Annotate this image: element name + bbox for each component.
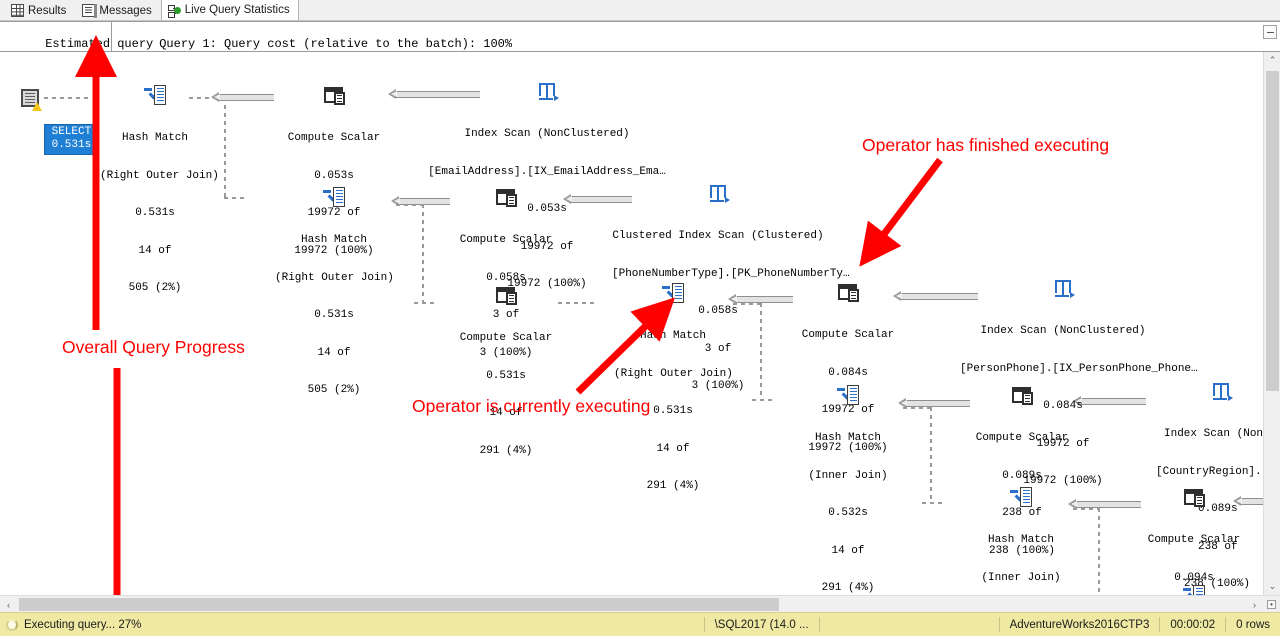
tab-results-label: Results — [28, 5, 66, 17]
compute-scalar-icon — [1183, 487, 1205, 507]
estimated-query-progress: Estimated query progress:27% — [0, 22, 112, 51]
node-time: 0.532s — [795, 507, 901, 520]
tab-live-query-statistics[interactable]: Live Query Statistics — [161, 0, 299, 20]
plan-node-hash-match-1[interactable]: Hash Match (Right Outer Join) 0.531s 14 … — [100, 60, 210, 320]
query-cost-line: Query 1: Query cost (relative to the bat… — [159, 37, 512, 51]
grid-icon — [11, 4, 24, 17]
node-total: 291 (4%) — [614, 480, 732, 493]
node-title: Compute Scalar — [1140, 534, 1248, 547]
node-title: Compute Scalar — [794, 329, 902, 342]
plan-node-hash-match-3[interactable]: Hash Match (Right Outer Join) 0.531s 14 … — [614, 258, 732, 518]
execution-plan-canvas[interactable]: SELECT0.531s Hash Match (Right Outer Joi… — [0, 52, 1280, 595]
compute-scalar-icon — [495, 285, 517, 305]
scroll-up-icon[interactable]: ⌃ — [1264, 52, 1280, 69]
horizontal-scrollbar[interactable]: ‹ › • — [0, 595, 1280, 612]
node-title: Hash Match — [795, 432, 901, 445]
connector-arrow — [218, 93, 274, 102]
node-rows: 14 of — [100, 245, 210, 258]
horizontal-scroll-thumb[interactable] — [19, 598, 779, 611]
node-time: 0.531s — [100, 207, 210, 220]
plan-node-compute-scalar-3[interactable]: Compute Scalar 0.531s 14 of 291 (4%) — [452, 260, 560, 482]
hash-match-icon — [662, 283, 684, 303]
connector-dashed — [396, 204, 424, 206]
index-scan-icon — [1210, 381, 1232, 401]
status-executing: Executing query... 27% — [0, 619, 141, 631]
collapse-icon[interactable] — [1263, 25, 1277, 39]
annotation-overall-query-progress: Overall Query Progress — [62, 337, 245, 358]
hash-match-icon — [837, 385, 859, 405]
live-query-statistics-pane: Results Messages Live Query Statistics E… — [0, 0, 1280, 636]
plan-node-select[interactable]: SELECT0.531s — [4, 64, 56, 167]
node-subtitle: (Right Outer Join) — [100, 170, 210, 183]
node-title: Index Scan (NonClustered) — [960, 325, 1166, 338]
node-total: 505 (2%) — [100, 282, 210, 295]
query-cost-and-sql: Query 1: Query cost (relative to the bat… — [112, 22, 1280, 51]
live-query-statistics-icon — [168, 4, 181, 17]
status-database: AdventureWorks2016CTP3 — [999, 617, 1160, 632]
node-title: Index Scan (NonClu — [1148, 428, 1280, 441]
node-title: Compute Scalar — [452, 332, 560, 345]
compute-scalar-icon — [1011, 385, 1033, 405]
scroll-down-icon[interactable]: ⌄ — [1264, 578, 1280, 595]
index-scan-icon — [536, 81, 558, 101]
node-total: 291 (4%) — [452, 445, 560, 458]
node-total: 505 (2%) — [275, 384, 393, 397]
node-rows: 14 of — [275, 347, 393, 360]
spinner-icon — [6, 619, 18, 631]
node-rows: 14 of — [795, 545, 901, 558]
plan-node-hash-match-2[interactable]: Hash Match (Right Outer Join) 0.531s 14 … — [275, 162, 393, 422]
index-scan-icon — [1052, 278, 1074, 298]
node-title: Hash Match — [968, 534, 1074, 547]
node-time: 0.531s — [275, 309, 393, 322]
annotation-operator-executing: Operator is currently executing — [412, 396, 650, 417]
hash-match-icon — [323, 187, 345, 207]
status-elapsed: 00:00:02 — [1159, 617, 1225, 632]
node-title: Compute Scalar — [968, 432, 1076, 445]
message-icon — [82, 4, 95, 17]
tab-live-query-statistics-label: Live Query Statistics — [185, 4, 290, 16]
node-title: Compute Scalar — [280, 132, 388, 145]
plan-node-hash-match-5[interactable]: Hash Match (Inner Join) 0.532s 14 of 291… — [968, 462, 1074, 595]
node-title: Index Scan (NonClustered) — [424, 128, 670, 141]
compute-scalar-icon — [323, 85, 345, 105]
vertical-scrollbar[interactable]: ⌃ ⌄ — [1263, 52, 1280, 595]
status-text: Executing query... 27% — [24, 619, 141, 631]
node-subtitle: (Inner Join) — [968, 572, 1074, 585]
status-user — [819, 617, 999, 632]
tab-messages[interactable]: Messages — [75, 0, 160, 20]
status-server: \SQL2017 (14.0 ... — [704, 617, 819, 632]
results-tabstrip: Results Messages Live Query Statistics — [0, 0, 1280, 21]
select-result-icon — [19, 89, 41, 109]
hash-match-icon — [1183, 585, 1205, 595]
node-title: Hash Match — [614, 330, 732, 343]
plan-node-hash-match-4[interactable]: Hash Match (Inner Join) 0.532s 14 of 291… — [795, 360, 901, 595]
node-title: Hash Match — [275, 234, 393, 247]
query-plan-header: Estimated query progress:27% Query 1: Qu… — [0, 21, 1280, 52]
node-subtitle: (Inner Join) — [795, 470, 901, 483]
vertical-scroll-thumb[interactable] — [1266, 71, 1279, 391]
zoom-corner-button[interactable]: • — [1263, 596, 1280, 613]
annotation-operator-finished: Operator has finished executing — [862, 135, 1109, 156]
hash-match-icon — [144, 85, 166, 105]
connector-dashed — [224, 97, 226, 197]
select-node-label: SELECT0.531s — [44, 124, 100, 155]
hash-match-icon — [1010, 487, 1032, 507]
scroll-left-icon[interactable]: ‹ — [0, 596, 17, 613]
tab-results[interactable]: Results — [4, 0, 75, 20]
status-rows: 0 rows — [1225, 617, 1280, 632]
node-rows: 14 of — [614, 443, 732, 456]
tab-messages-label: Messages — [99, 5, 151, 17]
index-scan-icon — [707, 183, 729, 203]
connector-dashed — [1098, 508, 1100, 595]
scroll-right-icon[interactable]: › — [1246, 596, 1263, 613]
node-time: 0.531s — [452, 370, 560, 383]
connector-dashed — [903, 407, 931, 409]
node-subtitle: (Right Outer Join) — [614, 368, 732, 381]
connector-dashed — [922, 502, 944, 504]
node-title: Clustered Index Scan (Clustered) — [612, 230, 824, 243]
node-title: Compute Scalar — [452, 234, 560, 247]
connector-dashed — [224, 197, 248, 199]
compute-scalar-icon — [495, 187, 517, 207]
node-subtitle: (Right Outer Join) — [275, 272, 393, 285]
status-bar: Executing query... 27% \SQL2017 (14.0 ..… — [0, 612, 1280, 636]
node-title: Hash Match — [100, 132, 210, 145]
node-total: 291 (4%) — [795, 582, 901, 595]
compute-scalar-icon — [837, 282, 859, 302]
plan-node-hash-match-6[interactable]: Hash Match — [1140, 560, 1248, 595]
connector-dashed — [930, 407, 932, 502]
